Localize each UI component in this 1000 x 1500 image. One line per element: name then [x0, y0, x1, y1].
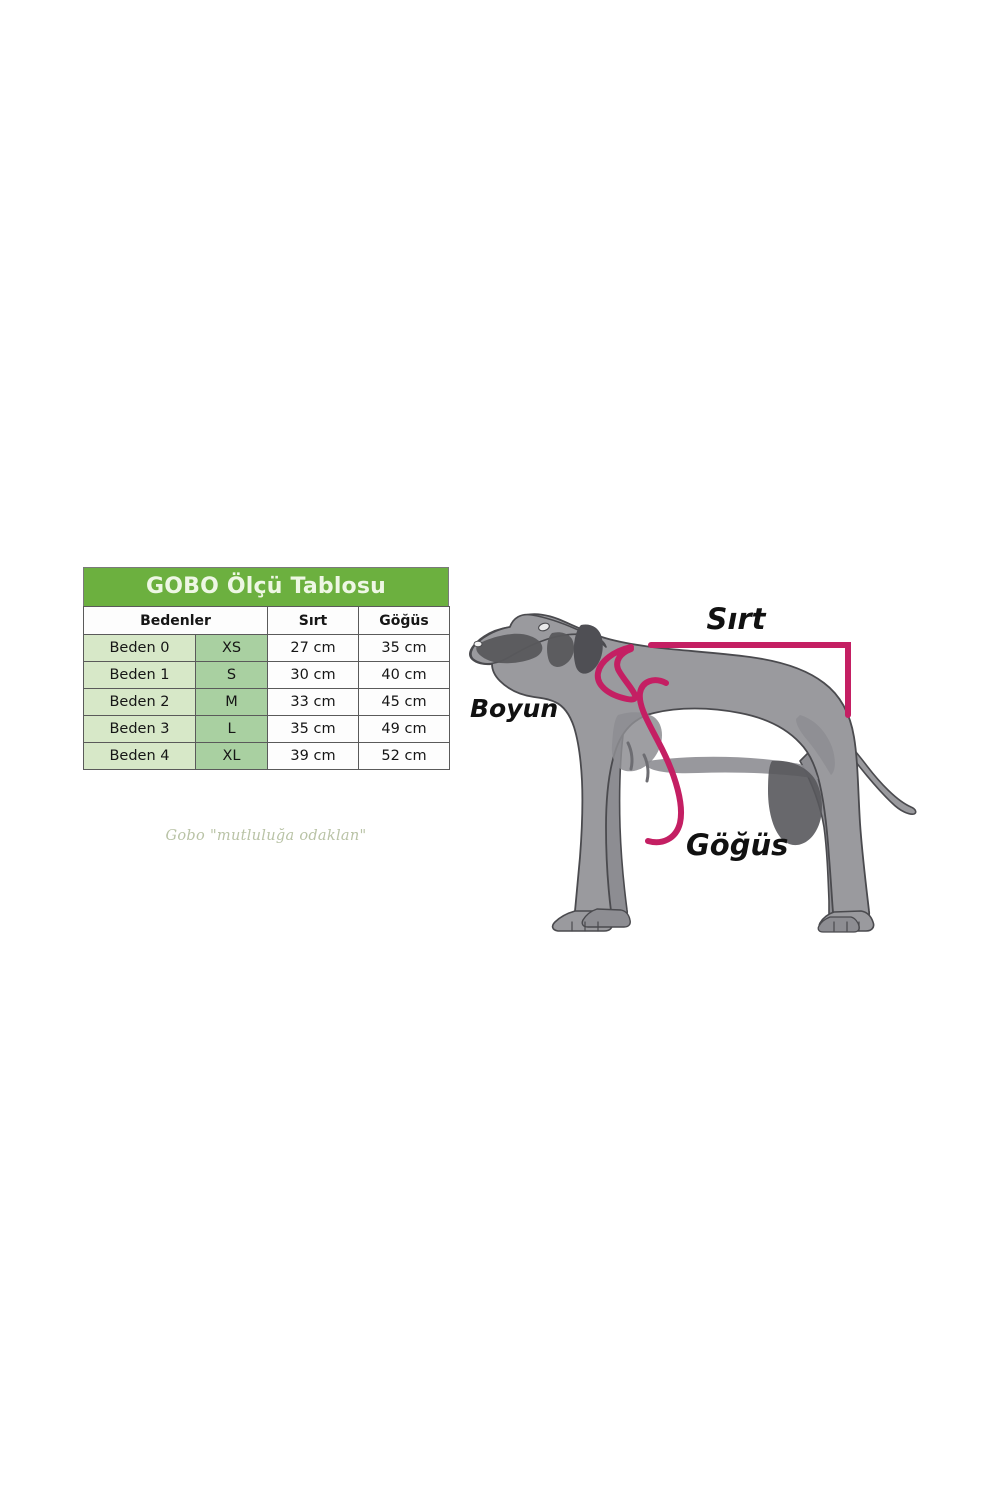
cell-gogus: 35 cm: [359, 635, 450, 662]
cell-beden: Beden 0: [84, 635, 196, 662]
label-boyun: Boyun: [470, 694, 558, 723]
cell-sirt: 30 cm: [268, 662, 359, 689]
brand-tagline: Gobo "mutluluğa odaklan": [83, 828, 449, 844]
column-header-sirt: Sırt: [268, 607, 359, 635]
cell-sirt: 33 cm: [268, 689, 359, 716]
table-row: Beden 3 L 35 cm 49 cm: [84, 716, 450, 743]
cell-gogus: 52 cm: [359, 743, 450, 770]
label-sirt: Sırt: [707, 602, 767, 636]
dog-measurement-diagram: Sırt Boyun Göğüs: [448, 565, 948, 965]
column-header-gogus: Göğüs: [359, 607, 450, 635]
cell-size-code: L: [196, 716, 268, 743]
table-row: Beden 1 S 30 cm 40 cm: [84, 662, 450, 689]
cell-beden: Beden 2: [84, 689, 196, 716]
table-header-row: Bedenler Sırt Göğüs: [84, 607, 450, 635]
table-header: Bedenler Sırt Göğüs: [84, 607, 450, 635]
size-chart-title: GOBO Ölçü Tablosu: [83, 567, 449, 606]
dog-paw-rear-far: [818, 917, 859, 932]
cell-gogus: 40 cm: [359, 662, 450, 689]
cell-size-code: XL: [196, 743, 268, 770]
table-row: Beden 2 M 33 cm 45 cm: [84, 689, 450, 716]
cell-beden: Beden 4: [84, 743, 196, 770]
table-body: Beden 0 XS 27 cm 35 cm Beden 1 S 30 cm 4…: [84, 635, 450, 770]
cell-size-code: XS: [196, 635, 268, 662]
column-header-bedenler: Bedenler: [84, 607, 268, 635]
table-row: Beden 0 XS 27 cm 35 cm: [84, 635, 450, 662]
cell-size-code: S: [196, 662, 268, 689]
cell-sirt: 39 cm: [268, 743, 359, 770]
cell-sirt: 35 cm: [268, 716, 359, 743]
cell-beden: Beden 1: [84, 662, 196, 689]
cell-beden: Beden 3: [84, 716, 196, 743]
page-canvas: GOBO Ölçü Tablosu Bedenler Sırt Göğüs Be…: [0, 0, 1000, 1500]
cell-gogus: 49 cm: [359, 716, 450, 743]
cell-gogus: 45 cm: [359, 689, 450, 716]
label-gogus: Göğüs: [686, 828, 788, 862]
size-chart-table: Bedenler Sırt Göğüs Beden 0 XS 27 cm 35 …: [83, 606, 450, 770]
cell-sirt: 27 cm: [268, 635, 359, 662]
dog-nose: [474, 641, 482, 647]
dog-illustration-svg: Sırt Boyun Göğüs: [448, 565, 948, 965]
size-chart: GOBO Ölçü Tablosu Bedenler Sırt Göğüs Be…: [83, 567, 449, 770]
cell-size-code: M: [196, 689, 268, 716]
table-row: Beden 4 XL 39 cm 52 cm: [84, 743, 450, 770]
